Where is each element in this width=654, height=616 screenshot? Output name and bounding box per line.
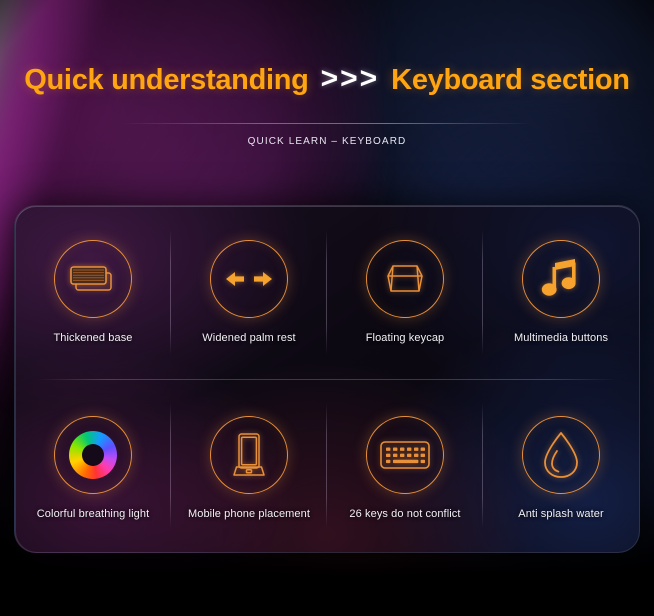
feature-card-panel: Thickened base Widened palm rest: [14, 205, 640, 553]
feature-label: Anti splash water: [518, 508, 603, 521]
feature-label: Mobile phone placement: [188, 508, 310, 521]
feature-icon-circle: [366, 416, 444, 494]
rgb-color-wheel-icon: [69, 431, 117, 479]
page-title: Quick understanding >>> Keyboard section: [0, 62, 654, 99]
feature-label: Multimedia buttons: [514, 332, 608, 345]
floating-keycap-icon: [381, 260, 429, 298]
feature-cell-colorful-breathing-light[interactable]: Colorful breathing light: [15, 379, 171, 552]
feature-cell-mobile-phone-placement[interactable]: Mobile phone placement: [171, 379, 327, 552]
page-title-left: Quick understanding: [24, 64, 308, 97]
page-subtitle: QUICK LEARN – KEYBOARD: [0, 136, 654, 147]
chevron-right-triple-icon: >>>: [315, 62, 386, 99]
feature-icon-circle: [210, 416, 288, 494]
feature-cell-thickened-base[interactable]: Thickened base: [15, 206, 171, 379]
feature-cell-multimedia-buttons[interactable]: Multimedia buttons: [483, 206, 639, 379]
feature-icon-circle: [54, 416, 132, 494]
feature-label: 26 keys do not conflict: [349, 508, 460, 521]
feature-label: Colorful breathing light: [37, 508, 149, 521]
feature-label: Widened palm rest: [202, 332, 295, 345]
stacked-base-icon: [67, 259, 119, 299]
water-droplet-icon: [542, 431, 580, 479]
page-header: Quick understanding >>> Keyboard section…: [0, 62, 654, 147]
grid-horizontal-divider: [37, 379, 617, 380]
page-title-right: Keyboard section: [391, 64, 630, 97]
feature-icon-circle: [522, 240, 600, 318]
music-note-icon: [541, 258, 581, 300]
double-arrow-horizontal-icon: [226, 268, 272, 290]
feature-cell-widened-palm-rest[interactable]: Widened palm rest: [171, 206, 327, 379]
feature-cell-26-keys-no-conflict[interactable]: 26 keys do not conflict: [327, 379, 483, 552]
feature-cell-anti-splash-water[interactable]: Anti splash water: [483, 379, 639, 552]
feature-icon-circle: [366, 240, 444, 318]
feature-label: Thickened base: [53, 332, 132, 345]
feature-cell-floating-keycap[interactable]: Floating keycap: [327, 206, 483, 379]
feature-icon-circle: [54, 240, 132, 318]
feature-label: Floating keycap: [366, 332, 445, 345]
feature-icon-circle: [522, 416, 600, 494]
header-divider: [122, 123, 532, 124]
phone-stand-icon: [228, 431, 270, 479]
feature-icon-circle: [210, 240, 288, 318]
keyboard-icon: [379, 438, 431, 472]
